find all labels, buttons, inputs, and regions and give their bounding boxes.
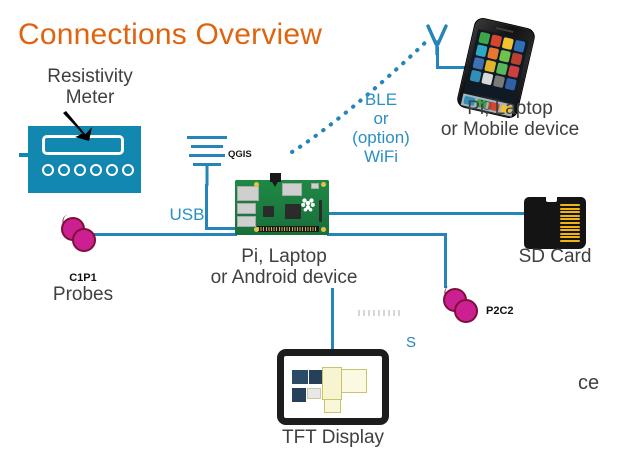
sdcard-contact <box>560 226 580 228</box>
map-block <box>309 370 322 384</box>
pi-chip-soc <box>285 204 301 219</box>
map-block <box>292 370 308 384</box>
phone-app-grid <box>467 32 525 101</box>
pi-port-hdmi <box>282 183 302 196</box>
pi-mount-hole <box>321 182 326 187</box>
wire-probe-left-to-pi <box>85 233 237 236</box>
probe-pair-left[interactable] <box>61 217 103 257</box>
probe-left-code: C1P1 <box>53 272 113 284</box>
phone-app-icon[interactable] <box>502 37 514 50</box>
connections-overview-slide: Connections Overview Resistivity Meter <box>0 0 619 467</box>
map-block <box>307 388 321 399</box>
sdcard-contact <box>560 211 580 213</box>
phone-app-icon[interactable] <box>496 62 508 75</box>
pi-chip-small <box>263 206 274 217</box>
raspberry-pi-board-icon[interactable] <box>235 180 329 235</box>
qgis-label: QGIS <box>228 150 272 161</box>
pi-mount-hole <box>254 227 259 232</box>
phone-app-icon[interactable] <box>493 75 505 88</box>
phone-app-icon[interactable] <box>472 57 484 70</box>
meter-button[interactable] <box>90 164 102 176</box>
phone-app-icon[interactable] <box>508 65 520 78</box>
phone-app-icon[interactable] <box>470 70 482 83</box>
sdcard-contact <box>560 215 580 217</box>
sdcard-contact <box>560 233 580 235</box>
pi-center-label: Pi, Laptop or Android device <box>179 246 389 289</box>
clipped-edge-text: ce <box>578 372 599 395</box>
usb-link-label: USB <box>157 205 217 224</box>
probe-ball <box>454 299 478 323</box>
phone-app-icon[interactable] <box>505 78 517 91</box>
probe-ball <box>72 228 96 252</box>
phone-app-icon[interactable] <box>484 60 496 73</box>
map-block <box>324 399 341 413</box>
sdcard-contact <box>560 229 580 231</box>
sdcard-contact <box>560 222 580 224</box>
wire-pi-to-probe-right-h <box>327 233 447 236</box>
meter-button[interactable] <box>122 164 134 176</box>
phone-app-icon[interactable] <box>475 44 487 57</box>
sdcard-contact <box>560 204 580 206</box>
sdcard-contact <box>560 208 580 210</box>
meter-button-row[interactable] <box>42 164 134 176</box>
phone-app-icon[interactable] <box>490 34 502 47</box>
pi-top-connector <box>270 173 281 182</box>
meter-button[interactable] <box>58 164 70 176</box>
faint-glyph-artifact: S <box>406 334 416 351</box>
tft-glass <box>284 356 382 418</box>
sdcard-contact <box>560 236 580 238</box>
phone-app-icon[interactable] <box>478 32 490 45</box>
phone-app-icon[interactable] <box>510 52 522 65</box>
tft-screen-icon[interactable] <box>277 349 389 425</box>
sdcard-contact <box>560 240 580 242</box>
phone-app-icon[interactable] <box>513 40 525 53</box>
phone-app-icon[interactable] <box>499 50 511 63</box>
map-block <box>322 367 342 400</box>
pi-port-power <box>311 183 319 189</box>
down-arrow-icon <box>62 110 96 142</box>
pi-connector-strip <box>319 200 322 222</box>
sdcard-contact <box>560 218 580 220</box>
probe-right-code: P2C2 <box>486 305 536 317</box>
wireless-link-label: BLE or (option) WiFi <box>348 90 414 166</box>
tft-display-label: TFT Display <box>266 427 400 448</box>
wire-qgis-to-pi <box>205 227 239 230</box>
signal-bars-icon <box>186 136 228 188</box>
sdcard-label: SD Card <box>496 246 614 267</box>
meter-button[interactable] <box>42 164 54 176</box>
microsd-card-icon[interactable] <box>524 197 586 249</box>
antenna-icon <box>424 24 450 56</box>
page-title: Connections Overview <box>18 18 322 52</box>
map-block <box>341 369 367 393</box>
meter-button[interactable] <box>106 164 118 176</box>
probe-left-label: Probes <box>38 284 128 305</box>
faint-dotted-artifact <box>358 310 402 316</box>
mobile-device-label: Pi, Laptop or Mobile device <box>424 98 596 141</box>
pi-port-usb <box>237 203 256 214</box>
pi-mount-hole <box>321 227 326 232</box>
probe-pair-right[interactable] <box>443 288 485 328</box>
resistivity-meter-label: Resistivity Meter <box>20 66 160 109</box>
pi-port-ethernet <box>237 186 259 201</box>
pi-port-usb <box>237 216 256 227</box>
phone-app-icon[interactable] <box>487 47 499 60</box>
pi-mount-hole <box>254 182 259 187</box>
sdcard-notch <box>546 196 557 202</box>
sdcard-contacts <box>560 204 580 242</box>
raspberry-logo-icon <box>301 196 315 212</box>
wire-pi-to-tft <box>331 288 334 350</box>
map-block <box>292 388 306 402</box>
meter-button[interactable] <box>74 164 86 176</box>
pi-gpio-header <box>257 226 319 232</box>
wire-pi-to-probe-right-v <box>444 233 447 288</box>
wire-pi-to-sdcard <box>327 212 527 215</box>
phone-app-icon[interactable] <box>481 72 493 85</box>
